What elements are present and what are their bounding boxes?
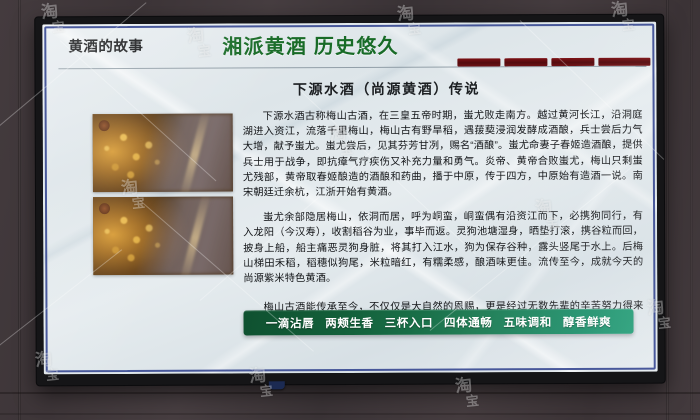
accent-bar (504, 58, 547, 66)
banner-item: 醇香鲜爽 (563, 313, 611, 329)
photo-rice-grain-bottom (93, 197, 233, 276)
header-kicker: 黄酒的故事 (68, 35, 143, 56)
accent-bar (551, 58, 594, 66)
display-indicator-led (269, 381, 285, 389)
text-column: 下源水酒古称梅山古酒，在三皇五帝时期，蚩尤败走南方。越过黄河长江，沿洞庭湖进入资… (243, 108, 644, 341)
body-paragraph: 蚩尤余部隐居梅山，依洞而居，呼为峒蛮，峒蛮偶有沿资江而下，必携狗同行，有入龙阳（… (243, 209, 643, 287)
wall-seam-left (18, 0, 21, 420)
photo-rice-grain-top (93, 114, 233, 193)
slide-body: 下源水酒（尚源黄酒）传说 (42, 68, 657, 375)
slide-header: 黄酒的故事 湘派黄酒 历史悠久 (42, 22, 656, 71)
accent-bar (457, 58, 500, 66)
photo-blur-wash (93, 114, 233, 193)
wall-horizontal-band-upper (0, 392, 700, 394)
wall-seam-far-right (690, 0, 693, 420)
banner-item: 五味调和 (503, 314, 551, 330)
photo-column (93, 114, 234, 281)
photo-scene: 黄酒的故事 湘派黄酒 历史悠久 下源水酒（尚源黄酒）传说 (0, 0, 700, 420)
wall-seam-right (666, 0, 669, 420)
banner-item: 两颊生香 (325, 314, 373, 330)
photo-blur-wash (93, 197, 233, 276)
accent-bar (598, 58, 650, 66)
slide-screen: 黄酒的故事 湘派黄酒 历史悠久 下源水酒（尚源黄酒）传说 (42, 22, 658, 375)
banner-item: 四体通畅 (444, 314, 492, 330)
page-title: 湘派黄酒 历史悠久 (222, 30, 398, 60)
wall-mounted-display: 黄酒的故事 湘派黄酒 历史悠久 下源水酒（尚源黄酒）传说 (35, 15, 665, 386)
wall-horizontal-band-lower (0, 413, 700, 415)
photo-seal-mark (99, 203, 110, 214)
body-paragraph: 下源水酒古称梅山古酒，在三皇五帝时期，蚩尤败走南方。越过黄河长江，沿洞庭湖进入资… (243, 108, 643, 201)
banner-item: 三杯入口 (385, 314, 433, 330)
slide-subtitle: 下源水酒（尚源黄酒）传说 (42, 78, 656, 101)
display-bezel: 黄酒的故事 湘派黄酒 历史悠久 下源水酒（尚源黄酒）传说 (42, 22, 658, 375)
tasting-notes-banner: 一滴沾唇 两颊生香 三杯入口 四体通畅 五味调和 醇香鲜爽 (243, 309, 633, 336)
banner-item: 一滴沾唇 (266, 315, 314, 331)
photo-seal-mark (99, 120, 110, 131)
header-accent-bars (457, 58, 650, 67)
